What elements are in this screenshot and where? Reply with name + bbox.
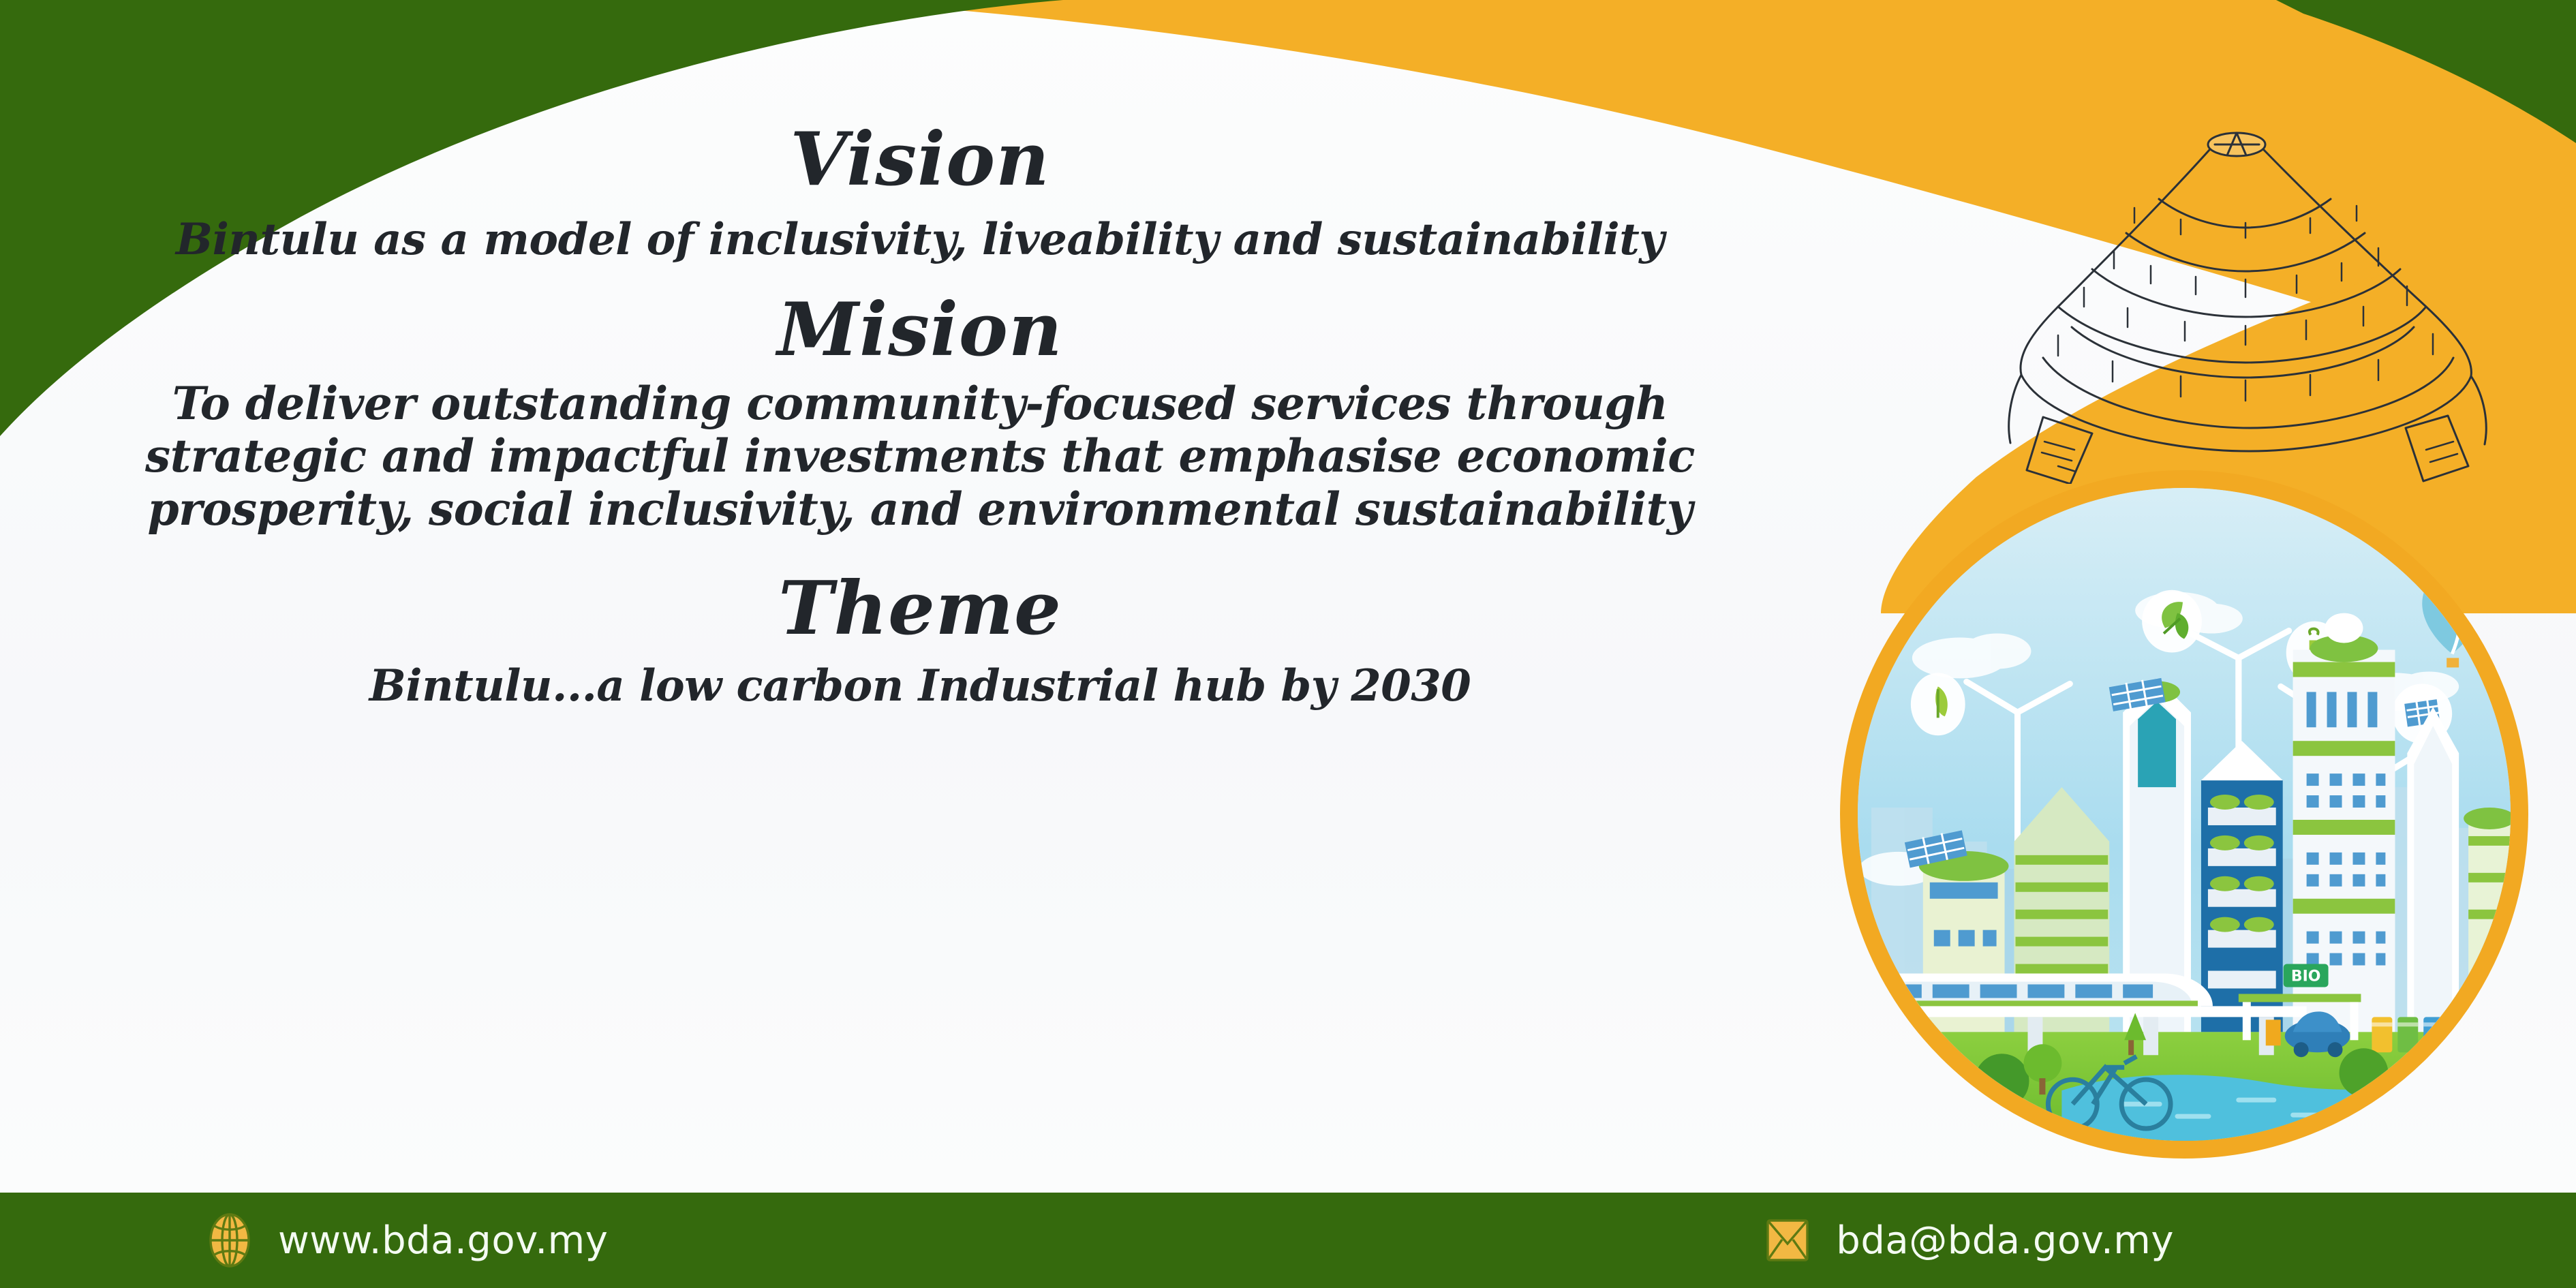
- vision-text: Bintulu as a model of inclusivity, livea…: [0, 214, 1840, 266]
- website-label: www.bda.gov.my: [278, 1218, 608, 1263]
- theme-text: Bintulu...a low carbon Industrial hub by…: [0, 660, 1840, 712]
- mision-text: To deliver outstanding community-focused…: [0, 378, 1840, 537]
- email-contact[interactable]: bda@bda.gov.my: [1762, 1212, 2174, 1268]
- promotional-banner: BIO: [0, 0, 2576, 1288]
- eco-city-illustration: BIO: [1858, 488, 2511, 1141]
- footer-bar: www.bda.gov.my bda@bda.gov.my: [0, 1193, 2576, 1288]
- conical-landmark-icon: [1956, 102, 2569, 484]
- vision-heading: Vision: [0, 123, 1840, 196]
- website-contact[interactable]: www.bda.gov.my: [204, 1212, 608, 1268]
- eco-city-medallion: BIO: [1840, 470, 2528, 1159]
- mision-line-2: strategic and impactful investments that…: [0, 430, 1840, 483]
- theme-heading: Theme: [0, 572, 1840, 645]
- globe-icon: [204, 1212, 255, 1268]
- envelope-icon: [1762, 1212, 1813, 1268]
- email-label: bda@bda.gov.my: [1836, 1218, 2174, 1263]
- svg-text:BIO: BIO: [2291, 968, 2321, 985]
- mision-line-1: To deliver outstanding community-focused…: [0, 378, 1840, 431]
- mision-line-3: prosperity, social inclusivity, and envi…: [0, 483, 1840, 536]
- content-block: Vision Bintulu as a model of inclusivity…: [0, 123, 1840, 712]
- mision-heading: Mision: [0, 293, 1840, 367]
